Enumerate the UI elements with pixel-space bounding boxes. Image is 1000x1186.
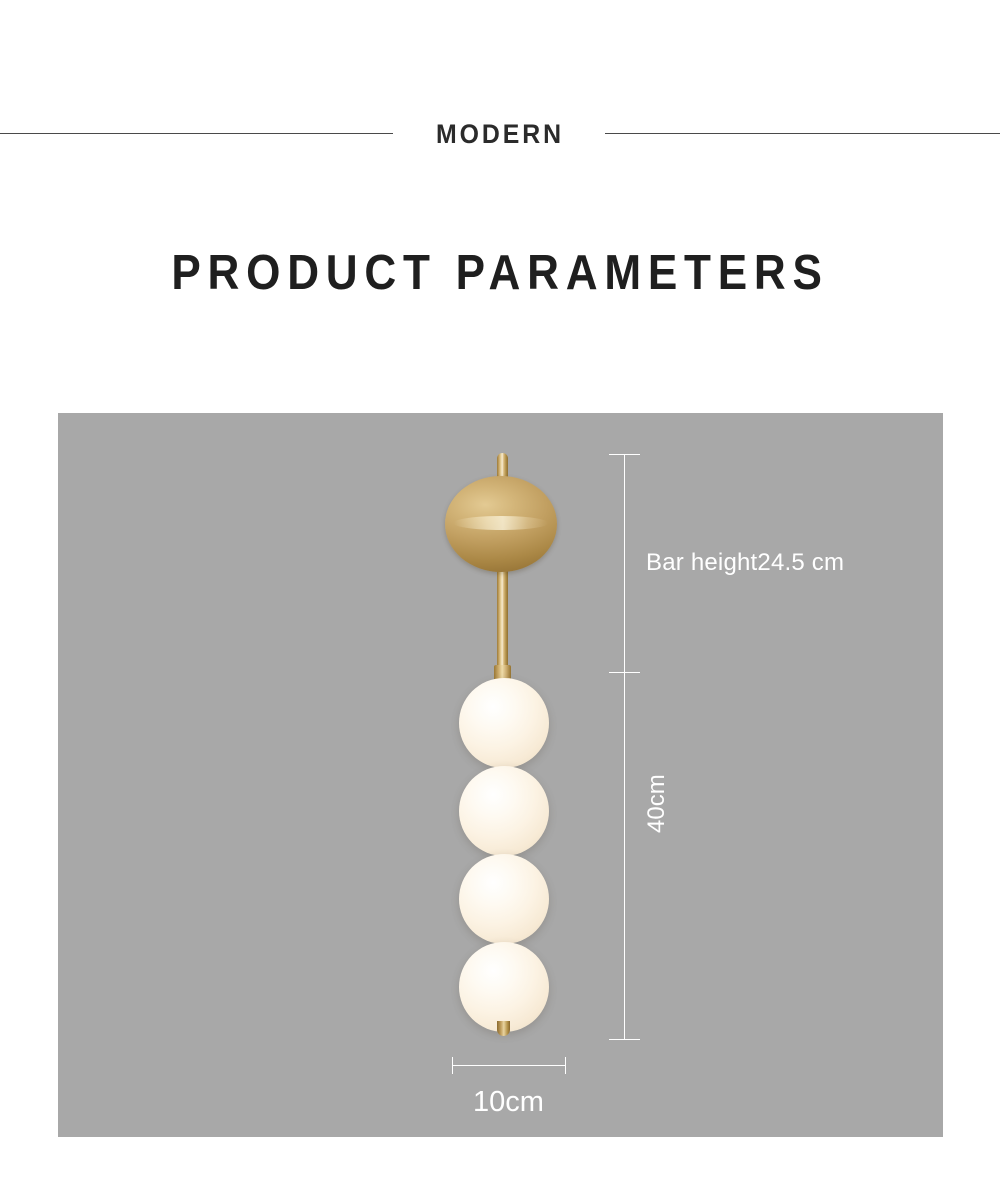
eyebrow-title: MODERN (40, 108, 960, 160)
dimension-tick-bottom (609, 1039, 640, 1040)
dimension-label-bar-height: Bar height24.5 cm (646, 549, 844, 577)
dimension-label-width: 10cm (452, 1086, 565, 1119)
product-parameters-page: MODERN PRODUCT PARAMETERS Bar height24.5… (0, 0, 1000, 1186)
glass-globe (459, 766, 549, 856)
dimension-tick-right (565, 1057, 566, 1074)
dimension-line-body-height (624, 672, 625, 1039)
dimension-tick-left (452, 1057, 453, 1074)
lamp-fixture (58, 413, 943, 1137)
eyebrow-band: MODERN (0, 108, 1000, 160)
brass-wall-plate (445, 476, 557, 572)
dimension-line-width (452, 1065, 565, 1066)
glass-globe (459, 942, 549, 1032)
dimension-label-body-height: 40cm (643, 774, 671, 833)
product-stage: Bar height24.5 cm 40cm 10cm (58, 413, 943, 1137)
page-title: PRODUCT PARAMETERS (50, 238, 950, 308)
glass-globe (459, 854, 549, 944)
dimension-line-bar-height (624, 454, 625, 672)
dimension-tick-top (609, 454, 640, 455)
glass-globe (459, 678, 549, 768)
brass-finial (497, 1021, 510, 1036)
